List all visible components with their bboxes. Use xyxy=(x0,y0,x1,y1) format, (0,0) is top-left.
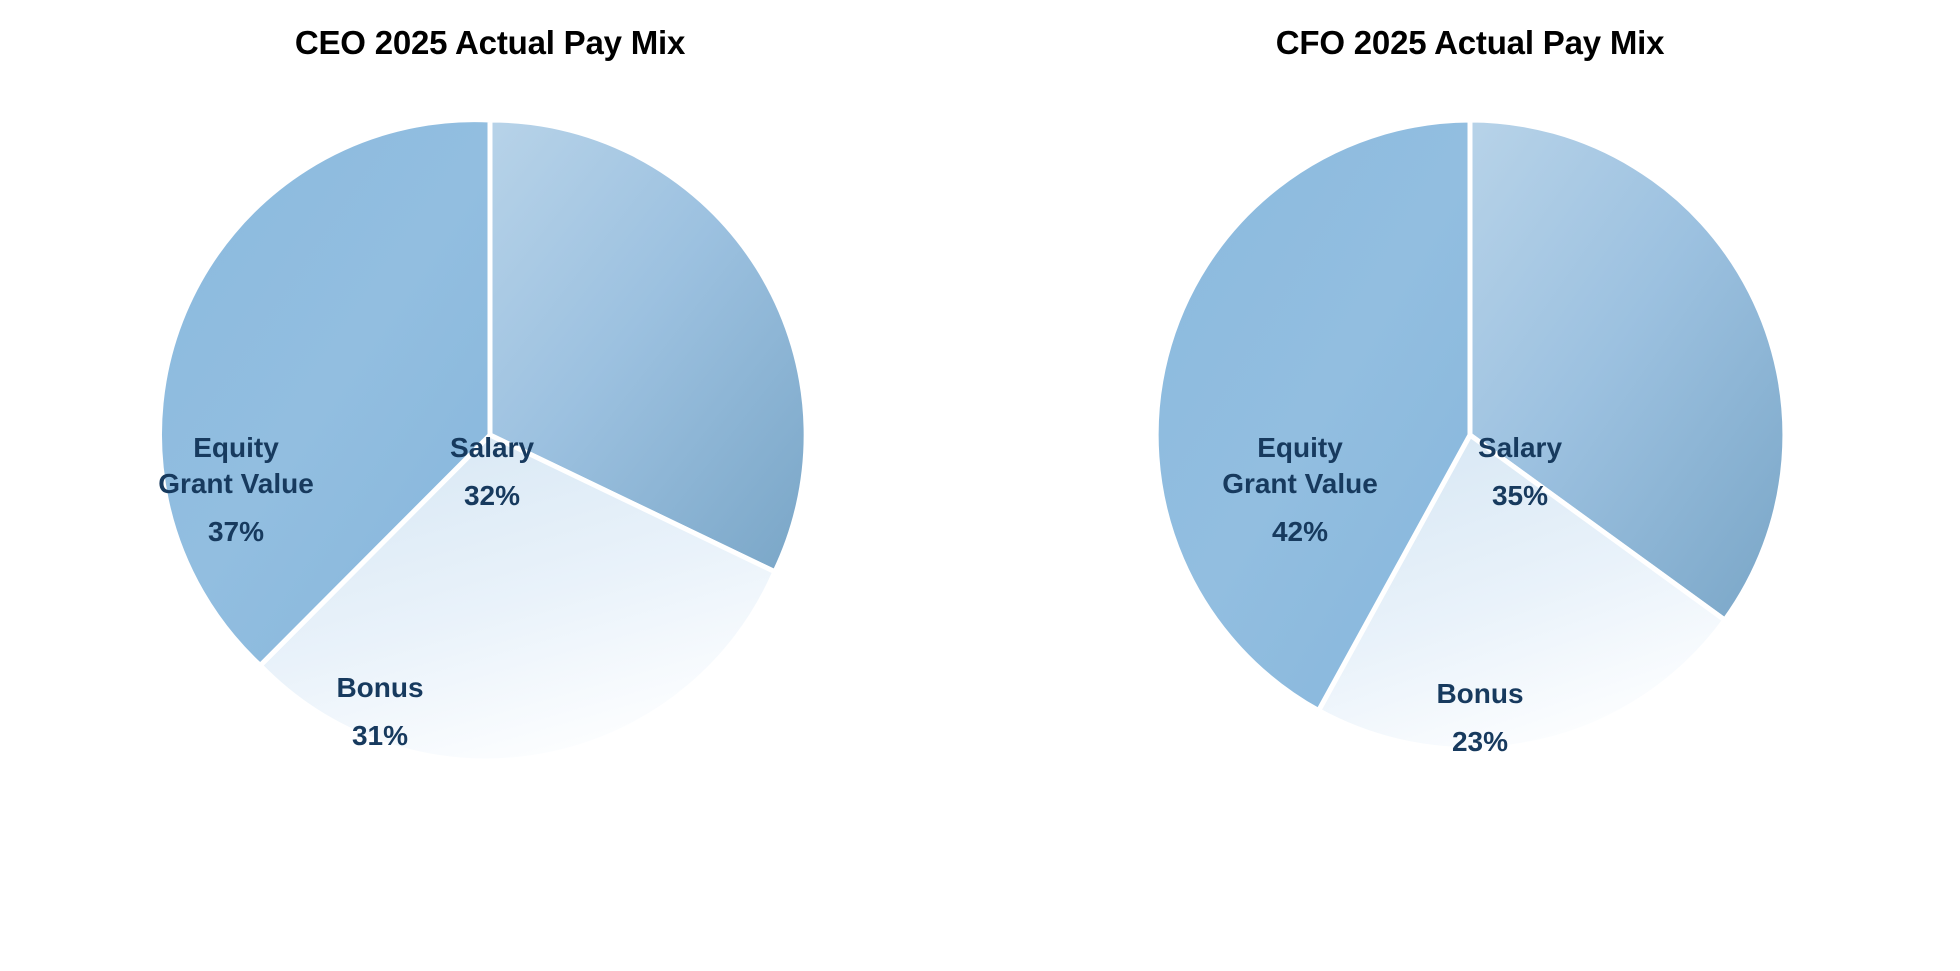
cfo-chart-panel: CFO 2025 Actual Pay Mix xyxy=(980,0,1960,971)
cfo-chart-title: CFO 2025 Actual Pay Mix xyxy=(980,24,1960,62)
ceo-pie-wrapper: Equity Grant Value 37% Salary 32% Bonus … xyxy=(0,120,980,780)
ceo-chart-panel: CEO 2025 Actual Pay Mix xyxy=(0,0,980,971)
ceo-pie-chart xyxy=(140,120,840,780)
pay-mix-chart-page: CEO 2025 Actual Pay Mix xyxy=(0,0,1960,971)
ceo-chart-title: CEO 2025 Actual Pay Mix xyxy=(0,24,980,62)
cfo-pie-chart xyxy=(1120,120,1820,780)
cfo-pie-wrapper: Equity Grant Value 42% Salary 35% Bonus … xyxy=(980,120,1960,780)
charts-container: CEO 2025 Actual Pay Mix xyxy=(0,0,1960,971)
